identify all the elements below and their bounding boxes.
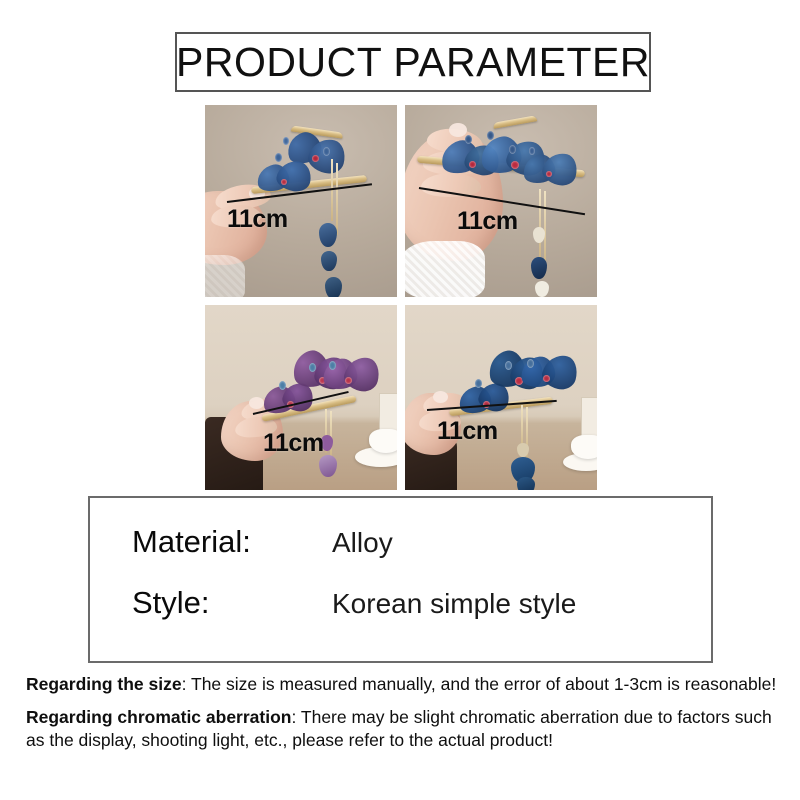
accent-gem <box>329 361 336 370</box>
product-photo-top-right[interactable]: 11cm <box>405 105 597 297</box>
center-gem <box>546 171 552 177</box>
center-gem <box>312 155 319 162</box>
tassel-drop <box>319 223 337 247</box>
product-parameter-header-box: PRODUCT PARAMETER <box>175 32 651 92</box>
product-photo-bottom-right[interactable]: 11cm <box>405 305 597 490</box>
product-photo-bottom-left[interactable]: 11cm <box>205 305 397 490</box>
note-size: Regarding the size: The size is measured… <box>26 673 778 697</box>
accent-gem <box>323 147 330 156</box>
accent-gem <box>529 147 535 155</box>
center-gem <box>345 377 352 384</box>
tassel-chain <box>336 163 338 235</box>
measure-label: 11cm <box>457 209 518 234</box>
center-gem <box>281 179 287 185</box>
accent-gem <box>527 359 534 368</box>
accent-gem <box>309 363 316 372</box>
cup <box>571 435 597 459</box>
tassel-drop <box>531 257 547 279</box>
measure-label: 11cm <box>227 207 288 232</box>
accent-gem <box>283 137 289 145</box>
spec-row-material: Material: Alloy <box>132 525 693 559</box>
tassel-bead <box>535 281 549 297</box>
style-value: Korean simple style <box>332 589 576 620</box>
tassel-drop <box>321 251 337 271</box>
note-chromatic-title: Regarding chromatic aberration <box>26 707 291 727</box>
product-photo-top-left[interactable]: 11cm <box>205 105 397 297</box>
disclaimer-notes: Regarding the size: The size is measured… <box>26 673 778 762</box>
tassel-drop <box>517 477 535 490</box>
specification-box: Material: Alloy Style: Korean simple sty… <box>88 496 713 663</box>
accent-gem <box>505 361 512 370</box>
fingernail <box>249 397 264 409</box>
note-size-title: Regarding the size <box>26 674 182 694</box>
clip-loop <box>493 115 537 129</box>
sleeve <box>205 255 245 297</box>
page-title: PRODUCT PARAMETER <box>176 42 650 83</box>
note-chromatic: Regarding chromatic aberration: There ma… <box>26 706 778 753</box>
fingernail <box>433 391 448 403</box>
style-label: Style: <box>132 586 332 620</box>
product-photo-grid: 11cm <box>205 105 597 490</box>
tassel-chain <box>539 189 541 259</box>
picture-frame <box>581 397 597 437</box>
center-gem <box>543 375 550 382</box>
measure-label: 11cm <box>263 431 324 456</box>
accent-gem <box>465 135 472 144</box>
accent-gem <box>509 145 516 154</box>
accent-gem <box>475 379 482 388</box>
cup <box>369 429 397 453</box>
material-label: Material: <box>132 525 332 559</box>
material-value: Alloy <box>332 528 393 559</box>
tassel-chain <box>544 191 546 267</box>
tassel-drop <box>325 277 342 297</box>
accent-gem <box>275 153 282 162</box>
spec-row-style: Style: Korean simple style <box>132 586 693 620</box>
fingernail <box>449 123 467 137</box>
note-size-body: : The size is measured manually, and the… <box>182 674 777 694</box>
center-gem <box>511 161 519 169</box>
accent-gem <box>279 381 286 390</box>
lace-sleeve <box>405 241 485 297</box>
measure-label: 11cm <box>437 419 498 444</box>
center-gem <box>469 161 476 168</box>
accent-gem <box>487 131 494 140</box>
tassel-drop <box>319 455 337 477</box>
